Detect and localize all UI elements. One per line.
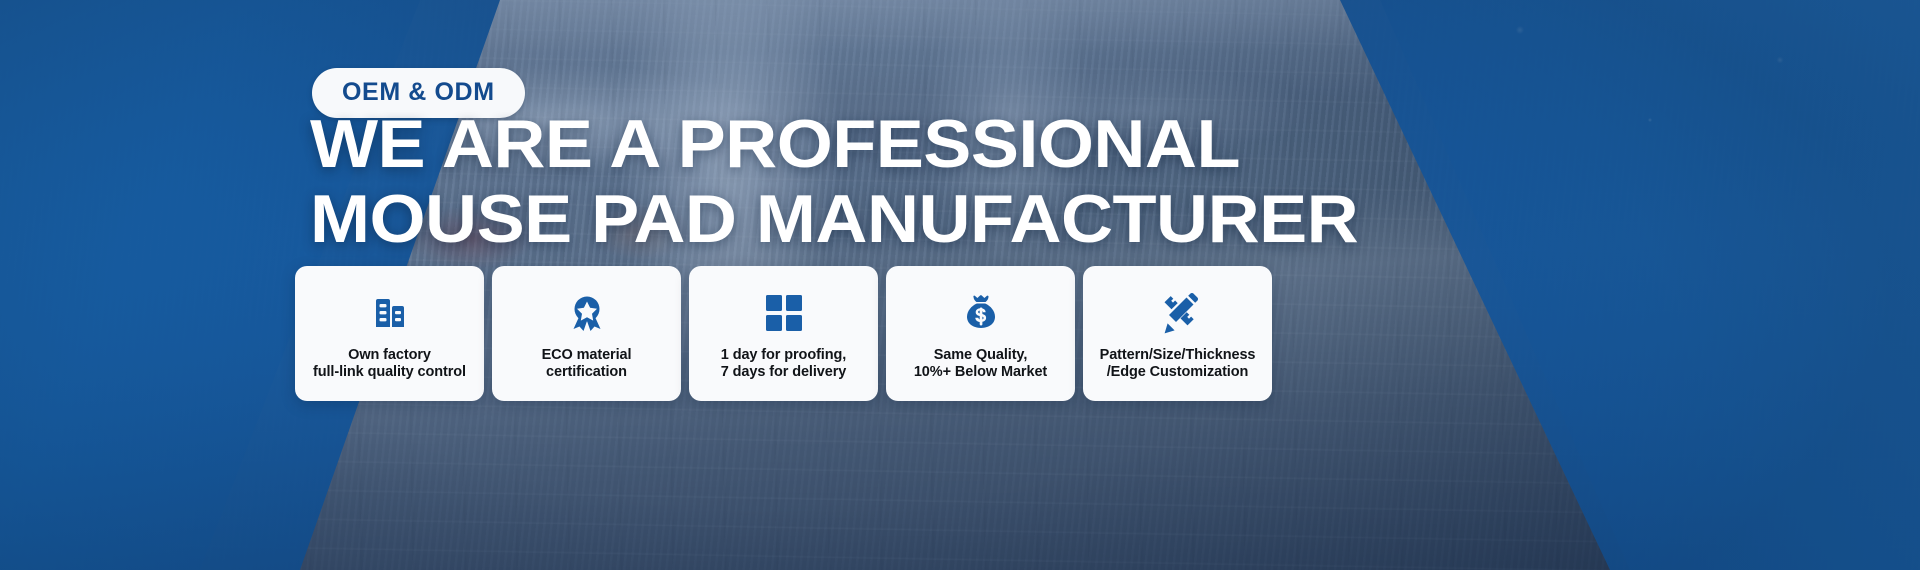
- money-bag-dollar-icon: [959, 290, 1003, 336]
- pencil-ruler-customization-icon: [1155, 290, 1201, 336]
- feature-card-row: Own factory full-link quality control: [295, 266, 1272, 401]
- feature-card-label-line-2: full-link quality control: [313, 364, 466, 381]
- feature-card-label-line-2: 10%+ Below Market: [914, 364, 1047, 381]
- feature-card-label: Own factory full-link quality control: [307, 347, 472, 381]
- feature-card[interactable]: Same Quality, 10%+ Below Market: [886, 266, 1075, 401]
- feature-card-label-line-2: certification: [542, 364, 632, 381]
- promo-banner: OEM & ODM WE ARE A PROFESSIONAL MOUSE PA…: [0, 0, 1920, 570]
- feature-card-label-line-1: Pattern/Size/Thickness: [1100, 347, 1256, 363]
- feature-card-label: ECO material certification: [536, 347, 638, 381]
- headline: WE ARE A PROFESSIONAL MOUSE PAD MANUFACT…: [310, 117, 1299, 248]
- headline-line-2: MOUSE PAD MANUFACTURER: [310, 192, 1358, 248]
- feature-card[interactable]: Pattern/Size/Thickness /Edge Customizati…: [1083, 266, 1272, 401]
- feature-card-label: 1 day for proofing, 7 days for delivery: [715, 347, 852, 381]
- factory-building-icon: [368, 290, 412, 336]
- feature-card[interactable]: 1 day for proofing, 7 days for delivery: [689, 266, 878, 401]
- banner-content: OEM & ODM WE ARE A PROFESSIONAL MOUSE PA…: [0, 0, 1920, 570]
- feature-card-label-line-1: Same Quality,: [934, 347, 1028, 363]
- feature-card-label: Same Quality, 10%+ Below Market: [908, 347, 1053, 381]
- feature-card-label: Pattern/Size/Thickness /Edge Customizati…: [1094, 347, 1262, 381]
- feature-card[interactable]: ECO material certification: [492, 266, 681, 401]
- feature-card-label-line-2: 7 days for delivery: [721, 364, 846, 381]
- four-square-grid-icon: [763, 290, 805, 336]
- headline-line-1: WE ARE A PROFESSIONAL: [310, 117, 1358, 173]
- feature-card-label-line-1: 1 day for proofing,: [721, 347, 846, 363]
- feature-card-label-line-2: /Edge Customization: [1100, 364, 1256, 381]
- feature-card[interactable]: Own factory full-link quality control: [295, 266, 484, 401]
- award-medal-star-icon: [565, 290, 609, 336]
- feature-card-label-line-1: ECO material: [542, 347, 632, 363]
- feature-card-label-line-1: Own factory: [348, 347, 431, 363]
